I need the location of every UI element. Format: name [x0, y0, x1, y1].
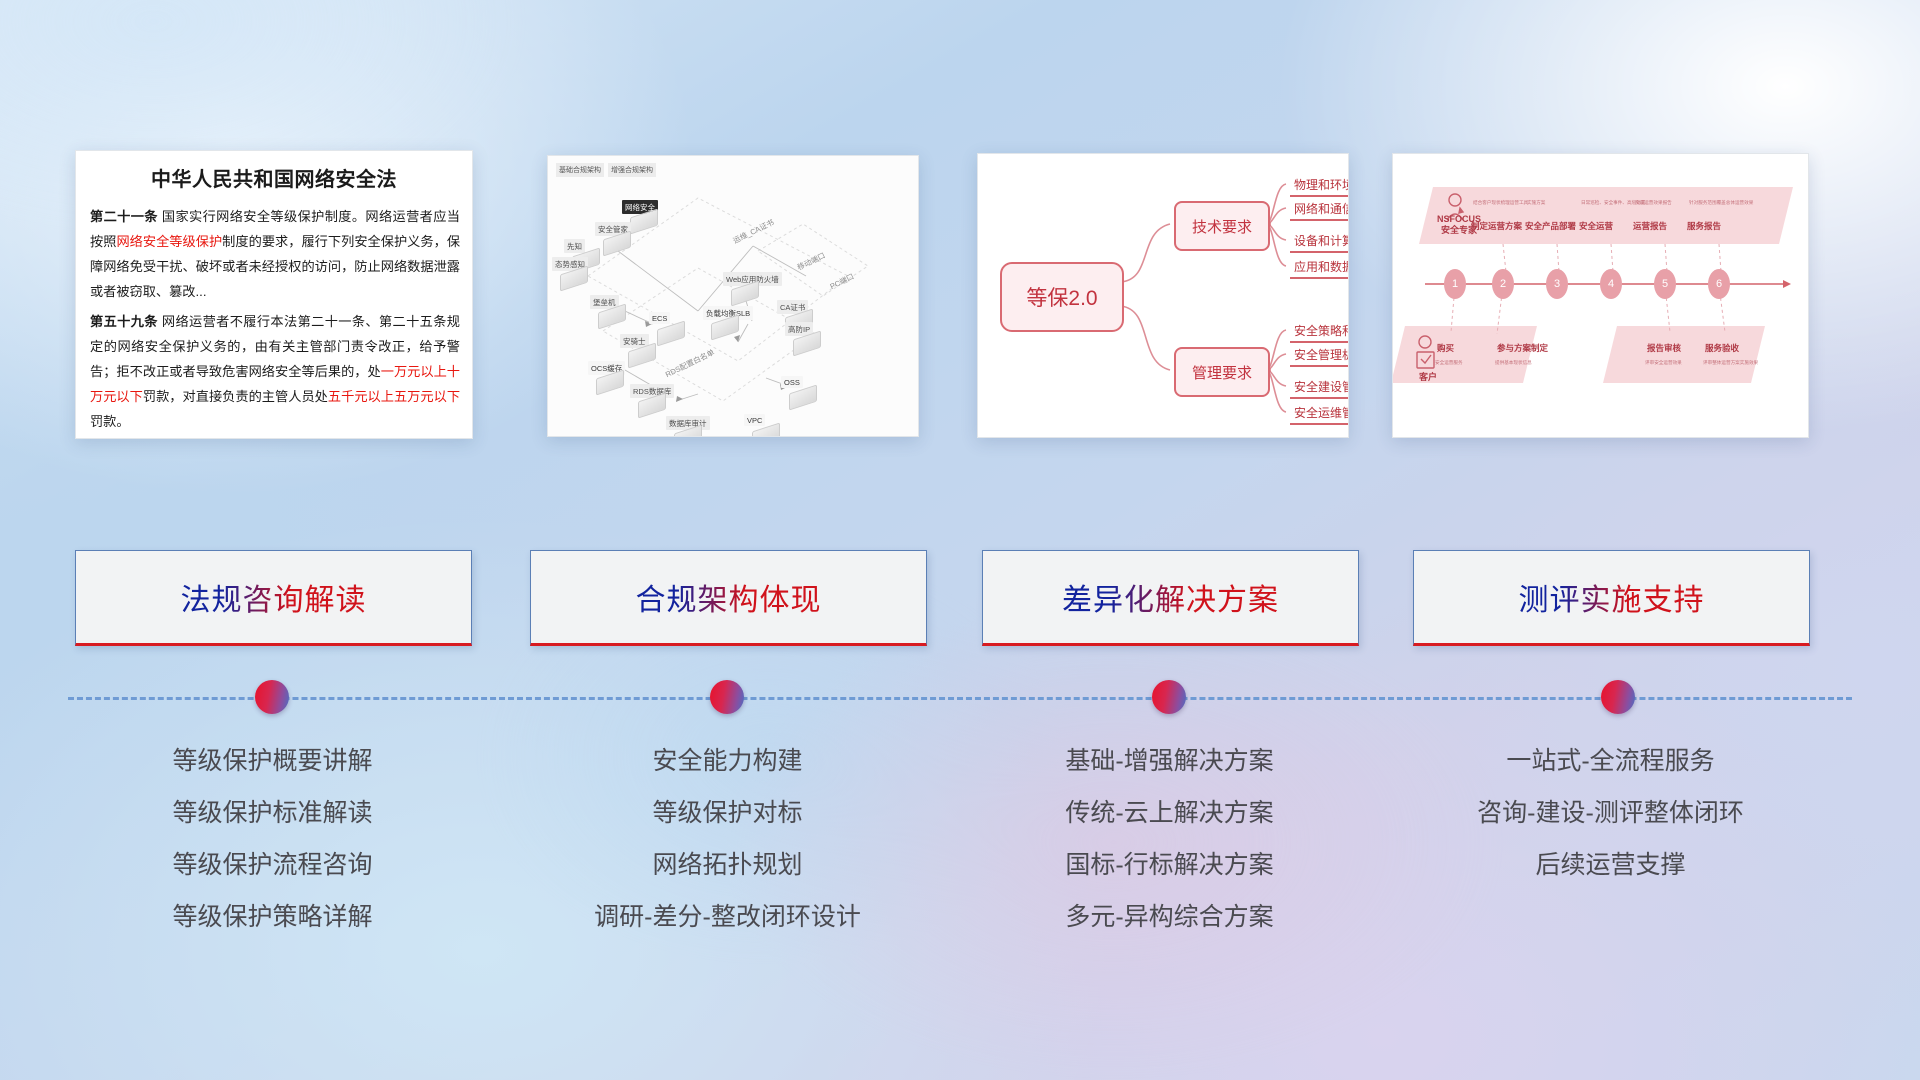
- nsfocus-bottom-step-sub: 评审整体运营方案实施效果: [1703, 360, 1758, 366]
- timeline-dashed-line: [68, 697, 1852, 700]
- nsfocus-step-number: 4: [1600, 269, 1622, 299]
- mindmap-diagram: 等保2.0 技术要求 管理要求 物理和环境安全网络和通信安全设备和计算安全应用和…: [978, 154, 1348, 437]
- nsfocus-bottom-step-title: 服务验收: [1705, 342, 1739, 354]
- bullet-item: 等级保护对标: [530, 787, 925, 839]
- nsfocus-diagram: 123456制定运营方案结合客户现状梳理运营工具安全产品部署实施方案安全运营日常…: [1393, 154, 1808, 437]
- mindmap-branch-technical-label: 技术要求: [1192, 216, 1252, 237]
- bullet-item: 等级保护标准解读: [75, 787, 470, 839]
- bullet-item: 等级保护策略详解: [75, 891, 470, 943]
- title-box-3-label: 测评实施支持: [1519, 575, 1705, 619]
- bullet-item: 国标-行标解决方案: [982, 839, 1357, 891]
- nsfocus-top-step-sub: 阶段运营效果报告: [1635, 200, 1672, 206]
- nsfocus-bottom-step-title: 报告审核: [1647, 342, 1681, 354]
- bullet-item: 后续运营支撑: [1413, 839, 1808, 891]
- title-box-1[interactable]: 合规架构体现: [530, 550, 927, 646]
- timeline-dot-3[interactable]: [1601, 680, 1635, 714]
- bullet-column-2: 基础-增强解决方案传统-云上解决方案国标-行标解决方案多元-异构综合方案: [982, 735, 1357, 943]
- nsfocus-step-number: 2: [1492, 269, 1514, 299]
- nsfocus-bottom-step-sub: 评审安全运营效果: [1645, 360, 1682, 366]
- architecture-node: VPC: [744, 414, 765, 426]
- nsfocus-step-number: 3: [1546, 269, 1568, 299]
- timeline-dot-1[interactable]: [710, 680, 744, 714]
- law-body: 第二十一条 国家实行网络安全等级保护制度。网络运营者应当按照网络安全等级保护制度…: [76, 204, 472, 439]
- architecture-tab-enhanced[interactable]: 增强合规架构: [608, 163, 656, 177]
- law-article-59-end: 罚款。: [90, 414, 130, 429]
- mindmap-leaf: 安全策略和管理制度: [1290, 322, 1349, 343]
- bullet-item: 等级保护流程咨询: [75, 839, 470, 891]
- bullet-column-1: 安全能力构建等级保护对标网络拓扑规划调研-差分-整改闭环设计: [530, 735, 925, 943]
- title-box-1-label: 合规架构体现: [636, 575, 822, 619]
- nsfocus-top-step-title: 安全产品部署: [1525, 220, 1576, 232]
- bullet-item: 咨询-建设-测评整体闭环: [1413, 787, 1808, 839]
- bullet-column-0: 等级保护概要讲解等级保护标准解读等级保护流程咨询等级保护策略详解: [75, 735, 470, 943]
- bullet-item: 等级保护概要讲解: [75, 735, 470, 787]
- mindmap-branch-management: 管理要求: [1174, 347, 1270, 397]
- bullet-column-3: 一站式-全流程服务咨询-建设-测评整体闭环后续运营支撑: [1413, 735, 1808, 891]
- bullet-item: 调研-差分-整改闭环设计: [530, 891, 925, 943]
- card-mindmap: 等保2.0 技术要求 管理要求 物理和环境安全网络和通信安全设备和计算安全应用和…: [977, 153, 1349, 438]
- mindmap-root-node: 等保2.0: [1000, 262, 1124, 332]
- nsfocus-top-step-sub: 结合客户现状梳理运营工具: [1473, 200, 1528, 206]
- title-box-2[interactable]: 差异化解决方案: [982, 550, 1359, 646]
- nsfocus-bottom-step-sub: 提供基本现状信息: [1495, 360, 1532, 366]
- mindmap-leaf: 安全管理机构和人员: [1290, 346, 1349, 367]
- mindmap-leaf: 物理和环境安全: [1290, 176, 1349, 197]
- mindmap-leaf: 应用和数据安全: [1290, 258, 1349, 279]
- card-law-text: 中华人民共和国网络安全法 第二十一条 国家实行网络安全等级保护制度。网络运营者应…: [75, 150, 473, 439]
- nsfocus-bottom-step-title: 参与方案制定: [1497, 342, 1548, 354]
- bullet-item: 网络拓扑规划: [530, 839, 925, 891]
- nsfocus-step-number: 6: [1708, 269, 1730, 299]
- law-article-21-highlight: 网络安全等级保护: [116, 234, 222, 249]
- nsfocus-top-step-title: 运营报告: [1633, 220, 1667, 232]
- law-article-21: 第二十一条 国家实行网络安全等级保护制度。网络运营者应当按照网络安全等级保护制度…: [90, 204, 460, 304]
- law-article-59: 第五十九条 网络运营者不履行本法第二十一条、第二十五条规定的网络安全保护义务的，…: [90, 309, 460, 434]
- bullet-item: 基础-增强解决方案: [982, 735, 1357, 787]
- mindmap-leaf: 设备和计算安全: [1290, 232, 1349, 253]
- timeline-dot-2[interactable]: [1152, 680, 1186, 714]
- title-box-3[interactable]: 测评实施支持: [1413, 550, 1810, 646]
- law-penalty-2: 五千元以上五万元以下: [328, 389, 460, 404]
- title-box-2-label: 差异化解决方案: [1062, 575, 1279, 619]
- nsfocus-top-step-sub: 实施方案: [1527, 200, 1545, 206]
- nsfocus-top-step-sub: 针对服务范围覆盖总体运营效果: [1689, 200, 1753, 206]
- law-article-59-mid: 罚款，对直接负责的主管人员处: [143, 389, 328, 404]
- architecture-diagram: 基础合规架构 增强合规架构 网络安全安全管家先知态势感知堡垒机ECS安骑士OCS…: [548, 156, 918, 436]
- mindmap-branch-management-label: 管理要求: [1192, 362, 1252, 383]
- bullet-item: 多元-异构综合方案: [982, 891, 1357, 943]
- mindmap-leaf: 安全建设管理: [1290, 378, 1349, 399]
- card-nsfocus-timeline: 123456制定运营方案结合客户现状梳理运营工具安全产品部署实施方案安全运营日常…: [1392, 153, 1809, 438]
- architecture-node: 先知: [564, 239, 585, 253]
- bullet-item: 一站式-全流程服务: [1413, 735, 1808, 787]
- law-title: 中华人民共和国网络安全法: [76, 163, 472, 192]
- architecture-node: ECS: [649, 312, 670, 324]
- architecture-node: OSS: [781, 376, 803, 388]
- nsfocus-role-expert: NSFOCUS 安全专家: [1437, 214, 1481, 236]
- architecture-tab-basic[interactable]: 基础合规架构: [556, 163, 604, 177]
- nsfocus-bottom-step-title: 购买: [1437, 342, 1454, 354]
- mindmap-leaf: 安全运维管理: [1290, 404, 1349, 425]
- nsfocus-top-step-title: 服务报告: [1687, 220, 1721, 232]
- nsfocus-step-number: 1: [1444, 269, 1466, 299]
- nsfocus-role-customer: 客户: [1419, 370, 1437, 383]
- title-box-0[interactable]: 法规咨询解读: [75, 550, 472, 646]
- card-cloud-architecture: 基础合规架构 增强合规架构 网络安全安全管家先知态势感知堡垒机ECS安骑士OCS…: [547, 155, 919, 437]
- bullet-item: 传统-云上解决方案: [982, 787, 1357, 839]
- law-article-59-label: 第五十九条: [90, 314, 158, 329]
- nsfocus-step-number: 5: [1654, 269, 1676, 299]
- architecture-tabs: 基础合规架构 增强合规架构: [556, 163, 656, 177]
- law-article-21-label: 第二十一条: [90, 209, 158, 224]
- title-box-0-label: 法规咨询解读: [181, 575, 367, 619]
- nsfocus-top-step-title: 安全运营: [1579, 220, 1613, 232]
- mindmap-leaf: 网络和通信安全: [1290, 200, 1349, 221]
- nsfocus-bottom-step-sub: 安全运营服务: [1435, 360, 1463, 366]
- mindmap-branch-technical: 技术要求: [1174, 201, 1270, 251]
- timeline-dot-0[interactable]: [255, 680, 289, 714]
- bullet-item: 安全能力构建: [530, 735, 925, 787]
